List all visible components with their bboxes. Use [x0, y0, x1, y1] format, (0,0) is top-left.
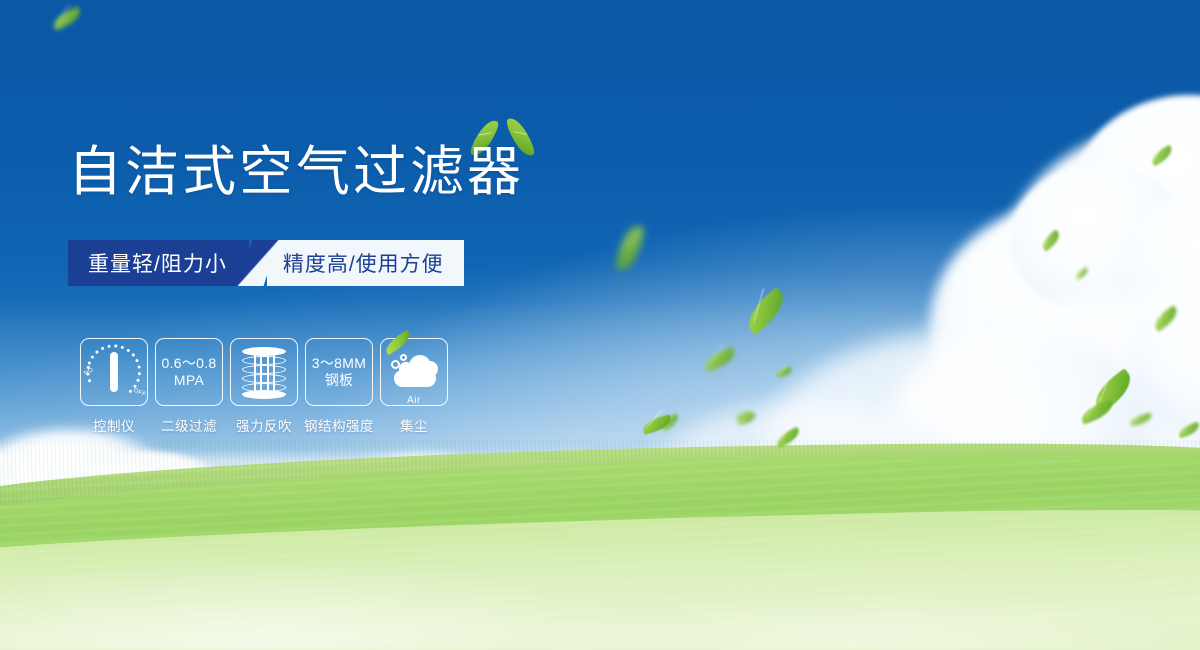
pressure-unit: MPA [161, 372, 216, 390]
subtitle-left-text: 重量轻/阻力小 [68, 240, 249, 286]
feature-item-pressure[interactable]: 0.6～0.8 MPA 二级过滤 [155, 338, 223, 435]
feature-item-steel-plate[interactable]: 3～8MM 钢板 钢结构强度 [305, 338, 373, 435]
feature-label: 强力反吹 [236, 415, 292, 435]
grass-sunlight-sheen [0, 500, 1200, 650]
pressure-range: 0.6～0.8 [161, 355, 216, 371]
gauge-needle [110, 352, 118, 392]
product-banner: 自洁式空气过滤器 重量轻/阻力小 精度高/使用方便 [0, 0, 1200, 650]
feature-item-dust-collection[interactable]: Air 集尘 [380, 338, 448, 435]
feature-label: 集尘 [400, 415, 428, 435]
steel-thickness: 3～8MM [312, 355, 366, 371]
dust-cloud-icon: Air [389, 350, 439, 394]
grass-field [0, 430, 1200, 650]
feature-icon-box [230, 338, 298, 406]
gauge-icon: NO OFF [85, 345, 143, 399]
feature-item-blowback[interactable]: 强力反吹 [230, 338, 298, 435]
feature-label: 二级过滤 [161, 415, 217, 435]
feature-icon-box: 0.6～0.8 MPA [155, 338, 223, 406]
subtitle-right-text: 精度高/使用方便 [267, 240, 464, 286]
steel-plate-text-icon: 3～8MM 钢板 [312, 355, 366, 390]
page-title: 自洁式空气过滤器 [68, 143, 524, 201]
filter-stack-icon [242, 347, 286, 397]
feature-icon-box: NO OFF [80, 338, 148, 406]
air-label: Air [389, 395, 439, 406]
dust-particle [400, 354, 407, 361]
gauge-off-label: OFF [132, 388, 146, 399]
pressure-text-icon: 0.6～0.8 MPA [161, 355, 216, 390]
feature-label: 钢结构强度 [304, 415, 374, 435]
dust-particle [391, 360, 400, 369]
subtitle-badge-bar: 重量轻/阻力小 精度高/使用方便 [68, 240, 464, 286]
feature-label: 控制仪 [93, 415, 135, 435]
feature-icon-box: 3～8MM 钢板 [305, 338, 373, 406]
gauge-no-label: NO [83, 367, 94, 377]
feature-item-control-gauge[interactable]: NO OFF 控制仪 [80, 338, 148, 435]
steel-material: 钢板 [312, 372, 366, 390]
feature-icon-box: Air [380, 338, 448, 406]
feature-list: NO OFF 控制仪 0.6～0.8 MPA 二级过滤 [80, 338, 448, 435]
